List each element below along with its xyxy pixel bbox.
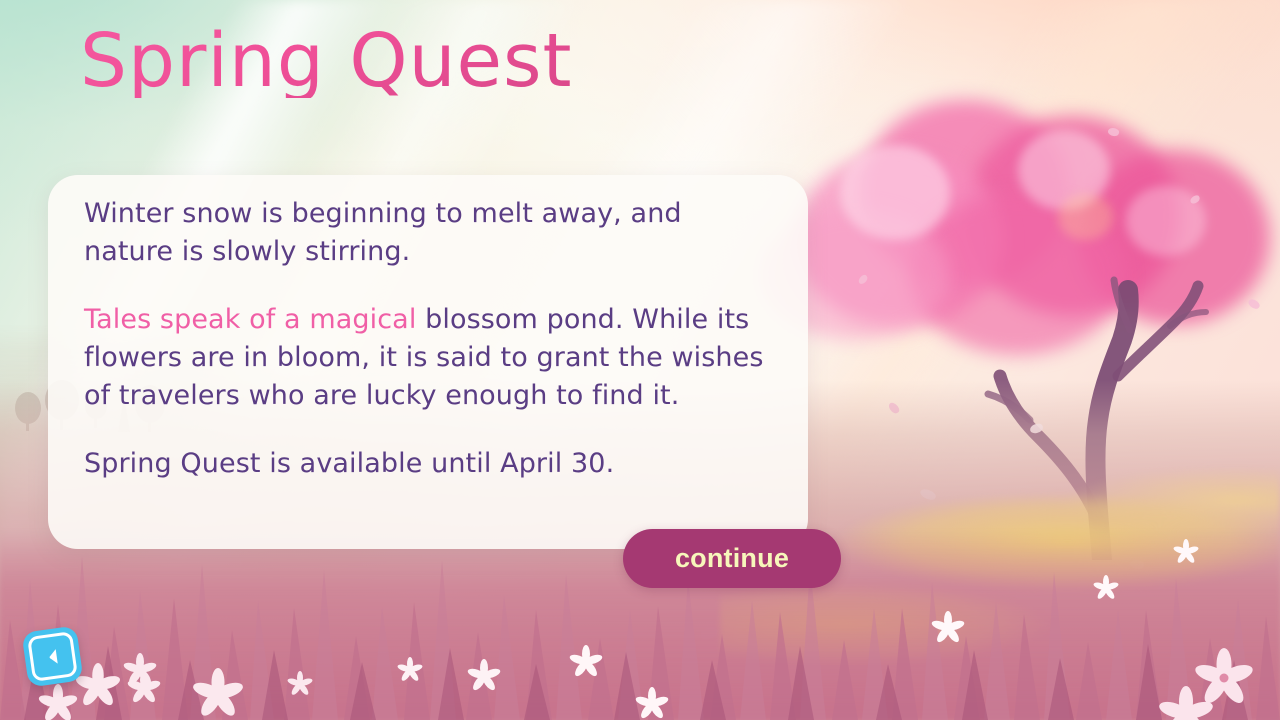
story-paragraph: Tales speak of a magical blossom pond. W…: [84, 301, 778, 415]
story-panel: Winter snow is beginning to melt away, a…: [48, 175, 808, 549]
story-run-highlight: Tales speak of a magical: [84, 304, 425, 335]
story-run: Winter snow is beginning to melt away, a…: [84, 198, 682, 267]
story-run: Spring Quest is available until April 30…: [84, 448, 614, 479]
story-paragraph-availability: Spring Quest is available until April 30…: [84, 445, 778, 483]
continue-button[interactable]: continue: [623, 529, 841, 588]
game-screen: Spring Quest Winter snow is beginning to…: [0, 0, 1280, 720]
story-paragraph: Winter snow is beginning to melt away, a…: [84, 195, 778, 271]
story-text: Winter snow is beginning to melt away, a…: [84, 195, 778, 483]
continue-button-label: continue: [675, 543, 789, 574]
chevron-left-icon: [40, 644, 65, 669]
back-button[interactable]: [21, 625, 83, 687]
page-title: Spring Quest: [80, 24, 573, 98]
